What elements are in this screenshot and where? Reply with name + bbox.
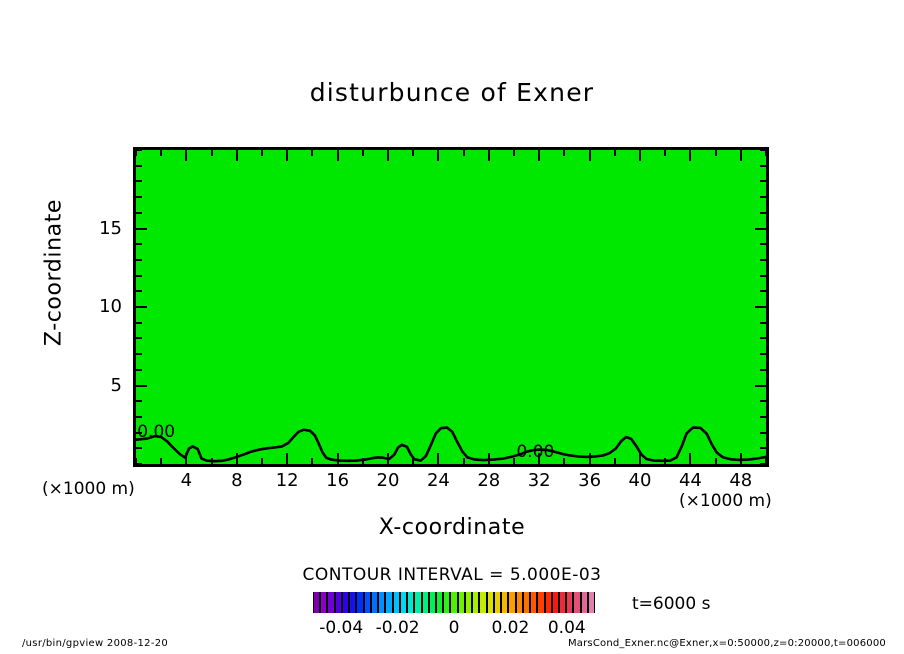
x-tick-major bbox=[639, 150, 641, 161]
colorbar-swatch bbox=[537, 592, 544, 613]
y-tick-minor bbox=[136, 337, 142, 339]
colorbar-swatch bbox=[566, 592, 573, 613]
x-tick-major bbox=[639, 453, 641, 464]
colorbar-swatch bbox=[342, 592, 349, 613]
y-tick-label: 5 bbox=[84, 375, 122, 396]
colorbar-tick-label: 0.04 bbox=[532, 618, 602, 638]
y-tick-minor bbox=[760, 259, 766, 261]
x-tick-minor bbox=[211, 150, 213, 156]
y-tick-minor bbox=[136, 353, 142, 355]
y-tick-minor bbox=[136, 416, 142, 418]
x-tick-major bbox=[437, 453, 439, 464]
x-tick-minor bbox=[513, 150, 515, 156]
x-tick-minor bbox=[261, 458, 263, 464]
x-tick-minor bbox=[311, 458, 313, 464]
colorbar-swatch bbox=[327, 592, 334, 613]
colorbar-swatch bbox=[313, 592, 320, 613]
footer-source-left: /usr/bin/gpview 2008-12-20 bbox=[22, 638, 168, 649]
x-tick-major bbox=[538, 150, 540, 161]
y-tick-minor bbox=[760, 243, 766, 245]
y-tick-minor bbox=[136, 165, 142, 167]
x-tick-major bbox=[589, 453, 591, 464]
x-tick-minor bbox=[563, 458, 565, 464]
x-tick-minor bbox=[412, 150, 414, 156]
x-tick-major bbox=[185, 453, 187, 464]
x-tick-label: 4 bbox=[164, 470, 208, 491]
contour-plot-svg bbox=[136, 150, 766, 464]
y-tick-minor bbox=[760, 400, 766, 402]
footer-source-right: MarsCond_Exner.nc@Exner,x=0:50000,z=0:20… bbox=[568, 638, 886, 649]
colorbar-swatch bbox=[414, 592, 421, 613]
y-tick-major bbox=[755, 385, 766, 387]
x-tick-major bbox=[286, 150, 288, 161]
colorbar-swatch bbox=[378, 592, 385, 613]
x-tick-label: 40 bbox=[618, 470, 662, 491]
y-tick-minor bbox=[760, 369, 766, 371]
colorbar-swatch bbox=[422, 592, 429, 613]
y-tick-minor bbox=[760, 416, 766, 418]
y-tick-major bbox=[755, 228, 766, 230]
x-tick-minor bbox=[362, 150, 364, 156]
colorbar-swatch bbox=[443, 592, 450, 613]
colorbar-swatch bbox=[588, 592, 595, 613]
colorbar-swatch bbox=[356, 592, 363, 613]
x-tick-minor bbox=[715, 150, 717, 156]
colorbar-swatch bbox=[545, 592, 552, 613]
y-tick-minor bbox=[136, 243, 142, 245]
x-tick-minor bbox=[362, 458, 364, 464]
y-tick-label: 10 bbox=[84, 296, 122, 317]
y-tick-minor bbox=[760, 463, 766, 465]
y-tick-minor bbox=[760, 275, 766, 277]
colorbar-swatch bbox=[400, 592, 407, 613]
x-tick-major bbox=[185, 150, 187, 161]
y-tick-minor bbox=[760, 212, 766, 214]
colorbar-swatch bbox=[393, 592, 400, 613]
colorbar-swatch bbox=[465, 592, 472, 613]
y-tick-minor bbox=[136, 196, 142, 198]
y-tick-minor bbox=[760, 432, 766, 434]
y-tick-minor bbox=[760, 180, 766, 182]
x-tick-minor bbox=[664, 458, 666, 464]
y-tick-minor bbox=[136, 369, 142, 371]
y-tick-minor bbox=[136, 290, 142, 292]
y-tick-minor bbox=[136, 180, 142, 182]
x-axis-title: X-coordinate bbox=[0, 515, 904, 540]
y-tick-minor bbox=[136, 149, 142, 151]
x-tick-major bbox=[589, 150, 591, 161]
page-title: disturbunce of Exner bbox=[0, 78, 904, 107]
x-tick-label: 28 bbox=[467, 470, 511, 491]
y-tick-minor bbox=[760, 322, 766, 324]
x-tick-major bbox=[286, 453, 288, 464]
x-tick-major bbox=[236, 150, 238, 161]
y-tick-major bbox=[755, 306, 766, 308]
x-tick-minor bbox=[513, 458, 515, 464]
y-tick-minor bbox=[760, 290, 766, 292]
x-tick-label: 8 bbox=[215, 470, 259, 491]
colorbar-swatch bbox=[573, 592, 580, 613]
colorbar-swatch bbox=[530, 592, 537, 613]
x-tick-minor bbox=[563, 150, 565, 156]
colorbar-swatch bbox=[559, 592, 566, 613]
x-tick-major bbox=[689, 150, 691, 161]
y-tick-major bbox=[136, 228, 147, 230]
x-tick-minor bbox=[614, 150, 616, 156]
colorbar-swatch bbox=[371, 592, 378, 613]
colorbar-swatch bbox=[552, 592, 559, 613]
x-tick-major bbox=[337, 150, 339, 161]
x-tick-label: 12 bbox=[265, 470, 309, 491]
contour-interval-label: CONTOUR INTERVAL = 5.000E-03 bbox=[0, 565, 904, 585]
plot-area bbox=[133, 147, 769, 467]
colorbar-swatch bbox=[487, 592, 494, 613]
x-tick-major bbox=[488, 150, 490, 161]
y-tick-minor bbox=[136, 259, 142, 261]
y-tick-minor bbox=[136, 212, 142, 214]
y-tick-minor bbox=[136, 463, 142, 465]
x-tick-minor bbox=[412, 458, 414, 464]
colorbar-swatch bbox=[501, 592, 508, 613]
y-tick-minor bbox=[760, 337, 766, 339]
x-tick-minor bbox=[311, 150, 313, 156]
x-tick-major bbox=[387, 453, 389, 464]
y-tick-minor bbox=[136, 275, 142, 277]
y-tick-minor bbox=[760, 447, 766, 449]
x-tick-minor bbox=[463, 458, 465, 464]
contour-line-zero bbox=[136, 428, 766, 462]
colorbar-swatch bbox=[508, 592, 515, 613]
x-unit-label-right: (×1000 m) bbox=[679, 491, 772, 511]
colorbar-swatch bbox=[364, 592, 371, 613]
x-tick-minor bbox=[261, 150, 263, 156]
colorbar-swatch bbox=[516, 592, 523, 613]
y-axis-title: Z-coordinate bbox=[42, 173, 67, 373]
time-label: t=6000 s bbox=[632, 594, 710, 614]
x-unit-label-left: (×1000 m) bbox=[42, 479, 135, 499]
x-tick-label: 16 bbox=[316, 470, 360, 491]
x-tick-minor bbox=[160, 150, 162, 156]
y-tick-minor bbox=[136, 322, 142, 324]
colorbar-swatch bbox=[523, 592, 530, 613]
x-tick-minor bbox=[664, 150, 666, 156]
colorbar-swatch bbox=[407, 592, 414, 613]
colorbar-swatch bbox=[472, 592, 479, 613]
x-tick-label: 20 bbox=[366, 470, 410, 491]
colorbar-swatch bbox=[385, 592, 392, 613]
x-tick-major bbox=[337, 453, 339, 464]
x-tick-label: 24 bbox=[416, 470, 460, 491]
x-tick-label: 32 bbox=[517, 470, 561, 491]
x-tick-major bbox=[740, 150, 742, 161]
colorbar-swatch bbox=[429, 592, 436, 613]
colorbar-swatch bbox=[320, 592, 327, 613]
x-tick-major bbox=[689, 453, 691, 464]
x-tick-minor bbox=[160, 458, 162, 464]
colorbar-swatch bbox=[450, 592, 457, 613]
y-tick-major bbox=[136, 385, 147, 387]
colorbar-swatch bbox=[458, 592, 465, 613]
x-tick-minor bbox=[463, 150, 465, 156]
x-tick-major bbox=[236, 453, 238, 464]
contour-value-label: 0.00 bbox=[137, 422, 175, 442]
x-tick-label: 48 bbox=[719, 470, 763, 491]
colorbar-swatch bbox=[494, 592, 501, 613]
x-tick-minor bbox=[211, 458, 213, 464]
x-tick-minor bbox=[715, 458, 717, 464]
x-tick-label: 44 bbox=[668, 470, 712, 491]
x-tick-major bbox=[387, 150, 389, 161]
colorbar-swatch bbox=[479, 592, 486, 613]
y-tick-minor bbox=[136, 447, 142, 449]
colorbar-swatch bbox=[335, 592, 342, 613]
colorbar bbox=[313, 592, 595, 613]
y-tick-major bbox=[136, 306, 147, 308]
x-tick-label: 36 bbox=[568, 470, 612, 491]
y-tick-minor bbox=[760, 196, 766, 198]
colorbar-swatch bbox=[436, 592, 443, 613]
x-tick-minor bbox=[614, 458, 616, 464]
x-tick-major bbox=[437, 150, 439, 161]
x-tick-major bbox=[740, 453, 742, 464]
colorbar-swatch bbox=[581, 592, 588, 613]
colorbar-swatch bbox=[349, 592, 356, 613]
y-tick-minor bbox=[760, 149, 766, 151]
y-tick-minor bbox=[760, 353, 766, 355]
y-tick-minor bbox=[760, 165, 766, 167]
contour-value-label: 0.00 bbox=[516, 442, 554, 462]
y-tick-label: 15 bbox=[84, 218, 122, 239]
y-tick-minor bbox=[136, 400, 142, 402]
x-tick-major bbox=[488, 453, 490, 464]
